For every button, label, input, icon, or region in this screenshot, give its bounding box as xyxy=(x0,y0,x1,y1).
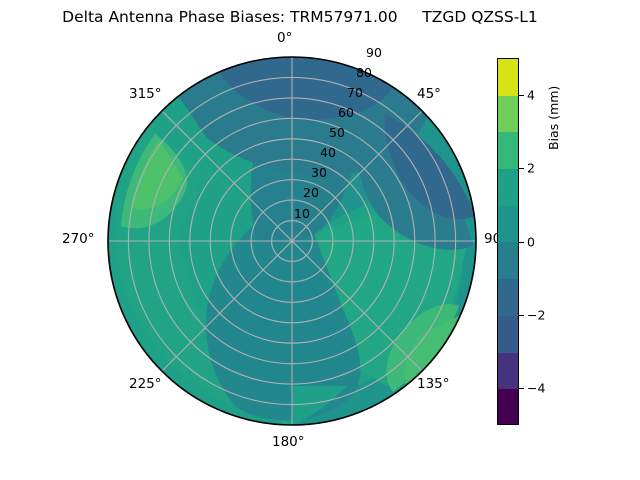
colorbar[interactable]: −4−2024 xyxy=(497,58,519,425)
radial-tick-70: 70 xyxy=(347,85,363,100)
colorbar-band-6 xyxy=(498,169,518,206)
polar-plot-svg xyxy=(107,56,477,426)
colorbar-tickmark-0 xyxy=(519,388,524,389)
colorbar-gradient xyxy=(497,58,519,425)
colorbar-tickmark-1 xyxy=(519,315,524,316)
colorbar-ticklabel-1: −2 xyxy=(527,307,545,322)
colorbar-band-7 xyxy=(498,132,518,169)
colorbar-ticklabel-0: −4 xyxy=(527,381,545,396)
angular-tick-45: 45° xyxy=(417,86,441,102)
page-title: Delta Antenna Phase Biases: TRM57971.00 … xyxy=(0,8,600,26)
radial-tick-90: 90 xyxy=(366,45,382,60)
colorbar-band-8 xyxy=(498,96,518,133)
colorbar-label: Bias (mm) xyxy=(546,86,561,150)
radial-tick-60: 60 xyxy=(338,105,354,120)
angular-tick-270: 270° xyxy=(62,231,95,247)
radial-tick-30: 30 xyxy=(311,165,327,180)
radial-tick-40: 40 xyxy=(320,145,336,160)
angular-gridlines xyxy=(108,57,476,425)
colorbar-band-3 xyxy=(498,279,518,316)
colorbar-band-2 xyxy=(498,316,518,353)
colorbar-ticklabel-2: 0 xyxy=(527,234,535,249)
radial-tick-10: 10 xyxy=(294,206,310,221)
radial-tick-20: 20 xyxy=(303,185,319,200)
angular-tick-225: 225° xyxy=(129,376,162,392)
figure-canvas: Delta Antenna Phase Biases: TRM57971.00 … xyxy=(0,0,640,480)
angular-tick-135: 135° xyxy=(417,376,450,392)
colorbar-ticklabel-4: 4 xyxy=(527,87,535,102)
radial-tick-80: 80 xyxy=(356,65,372,80)
angular-tick-180: 180° xyxy=(272,434,305,450)
colorbar-band-9 xyxy=(498,59,518,96)
colorbar-band-5 xyxy=(498,206,518,243)
angular-tick-0: 0° xyxy=(277,30,292,46)
colorbar-band-0 xyxy=(498,389,518,425)
colorbar-tickmark-4 xyxy=(519,95,524,96)
polar-axes[interactable]: 10 20 30 40 50 60 70 80 90 xyxy=(107,56,477,426)
radial-tick-50: 50 xyxy=(329,125,345,140)
colorbar-tickmark-2 xyxy=(519,242,524,243)
colorbar-tickmark-3 xyxy=(519,168,524,169)
colorbar-band-1 xyxy=(498,353,518,390)
colorbar-ticklabel-3: 2 xyxy=(527,161,535,176)
angular-tick-315: 315° xyxy=(129,86,162,102)
colorbar-band-4 xyxy=(498,242,518,279)
